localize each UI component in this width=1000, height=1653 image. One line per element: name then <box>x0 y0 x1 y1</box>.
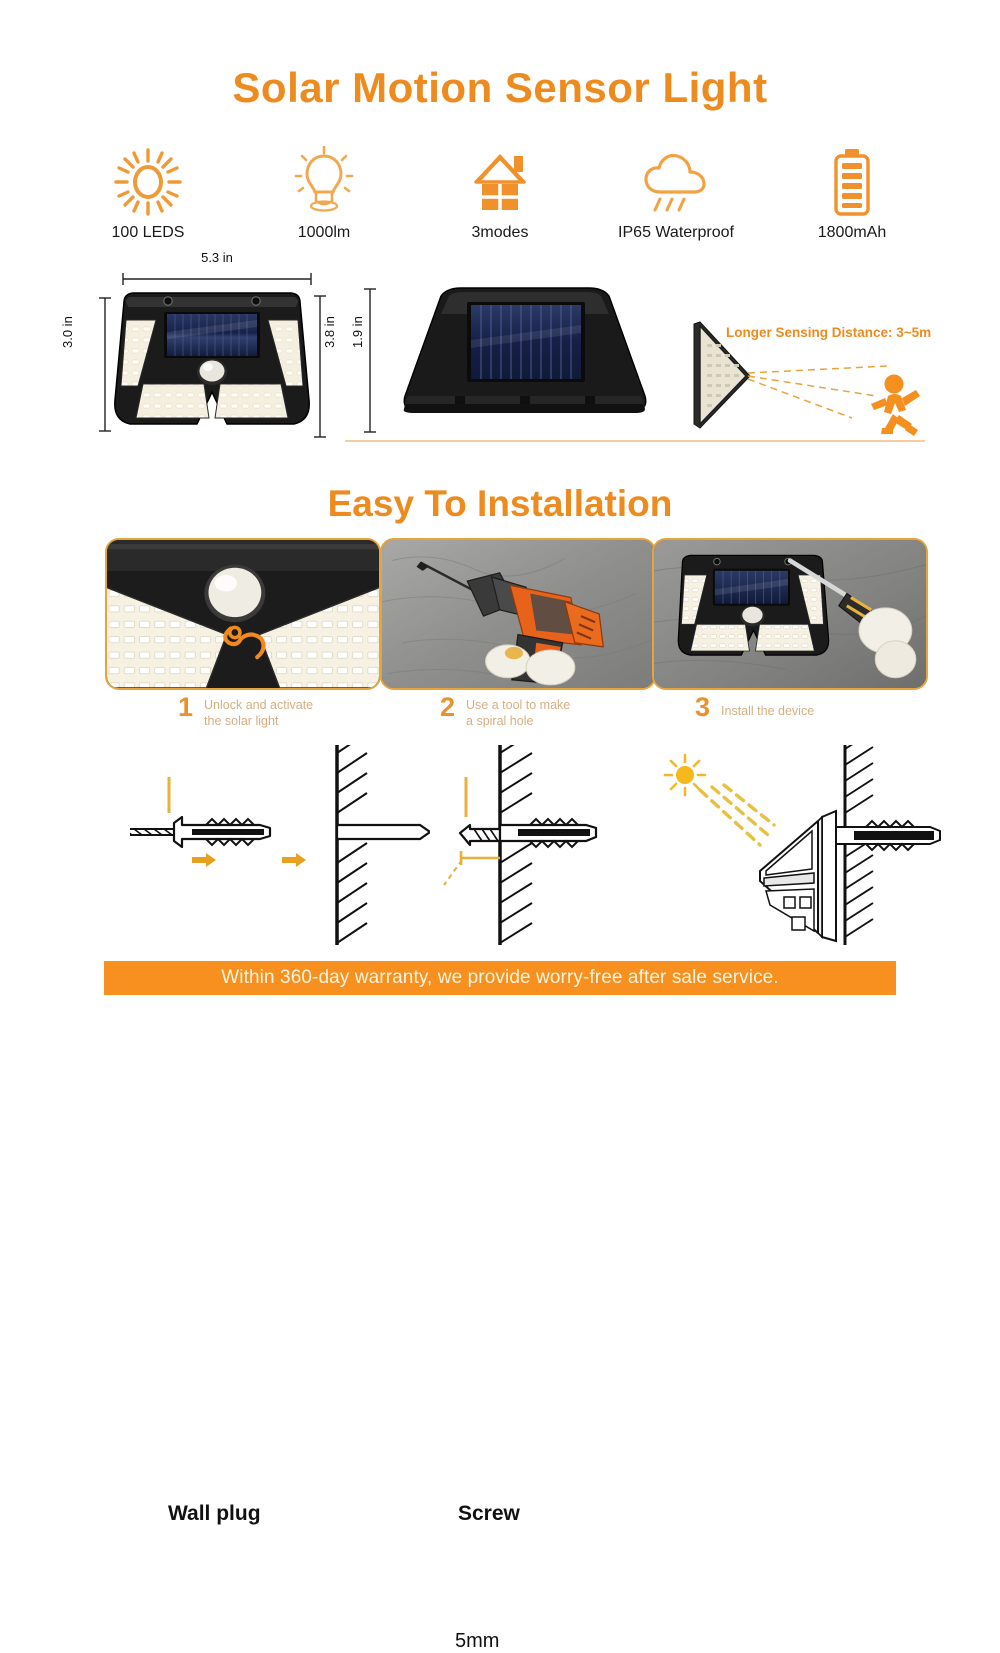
section-divider <box>345 440 925 442</box>
warranty-banner: Within 360-day warranty, we provide worr… <box>104 961 896 995</box>
feature-item-leds: 100 LEDS <box>60 146 236 242</box>
step-text: Use a tool to make a spiral hole <box>466 694 570 729</box>
product-spec-block: 5.3 in 3.0 in 3.8 in 1.9 in <box>0 250 1000 450</box>
feature-label: 100 LEDS <box>60 224 236 242</box>
wall-plug-diagram <box>130 745 430 945</box>
feature-item-waterproof: IP65 Waterproof <box>588 146 764 242</box>
install-steps: 1 Unlock and activate the solar light 2 … <box>0 694 1000 734</box>
dimension-height-left-label: 3.0 in <box>60 316 75 348</box>
install-photo-1 <box>105 538 381 690</box>
warranty-text: Within 360-day warranty, we provide worr… <box>221 967 778 989</box>
screw-gap-label: 5mm <box>455 1630 499 1653</box>
bulb-icon <box>236 146 412 218</box>
install-heading: Easy To Installation <box>0 483 1000 525</box>
led-closeup-illustration <box>107 540 379 688</box>
infographic-page: Solar Motion Sensor Light <box>0 0 1000 1000</box>
feature-label: 3modes <box>412 224 588 242</box>
wall-plug-label: Wall plug <box>168 1502 261 1526</box>
screw-diagram <box>430 745 660 945</box>
page-title: Solar Motion Sensor Light <box>0 64 1000 112</box>
feature-label: 1800mAh <box>764 224 940 242</box>
install-step-1: 1 Unlock and activate the solar light <box>178 694 313 729</box>
feature-item-modes: 3modes <box>412 146 588 242</box>
mounted-light-illustration <box>654 540 926 688</box>
step-number: 2 <box>440 694 455 721</box>
sun-icon <box>60 146 236 218</box>
step-number: 3 <box>695 694 710 721</box>
house-icon <box>412 146 588 218</box>
step-number: 1 <box>178 694 193 721</box>
sensing-distance-diagram <box>680 318 940 443</box>
feature-item-battery: 1800mAh <box>764 146 940 242</box>
product-side-view <box>383 278 663 443</box>
feature-label: 1000lm <box>236 224 412 242</box>
feature-label: IP65 Waterproof <box>588 224 764 242</box>
step-text: Install the device <box>721 694 814 719</box>
battery-icon <box>764 146 940 218</box>
product-front-view <box>108 280 316 440</box>
install-step-3: 3 Install the device <box>695 694 814 721</box>
install-photo-2 <box>380 538 656 690</box>
technical-diagrams: Wall plug Screw 5mm <box>0 745 1000 945</box>
install-photo-panels <box>0 538 1000 688</box>
rain-cloud-icon <box>588 146 764 218</box>
screw-label: Screw <box>458 1502 520 1526</box>
dimension-width-label: 5.3 in <box>122 250 312 265</box>
step-text: Unlock and activate the solar light <box>204 694 313 729</box>
dimension-depth-line <box>363 288 377 433</box>
feature-row: 100 LEDS <box>60 132 940 242</box>
drill-illustration <box>382 540 654 688</box>
feature-item-lumens: 1000lm <box>236 146 412 242</box>
install-step-2: 2 Use a tool to make a spiral hole <box>440 694 570 729</box>
install-photo-3 <box>652 538 928 690</box>
mounted-lamp-diagram <box>640 745 970 945</box>
